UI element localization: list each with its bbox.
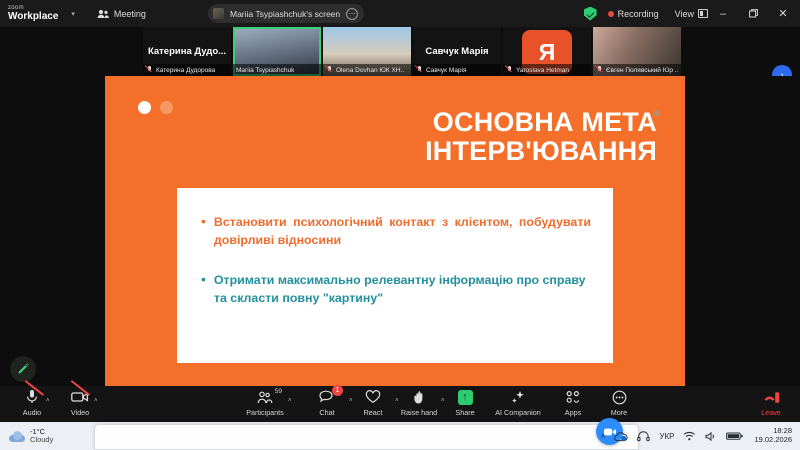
title-bar: zoom Workplace ▾ Meeting Mariia Tsypiash… [0,0,800,27]
participant-name-bar: Євген Полявський Юр .. [593,64,681,76]
participants-label: Participants [246,408,284,417]
raise-hand-label: Raise hand [401,408,437,417]
mic-muted-icon [596,66,603,74]
bullet-marker-icon: • [201,272,206,308]
chat-unread-badge: 1 [332,385,343,396]
camera-muted-icon [71,389,89,405]
participant-name: Савчук Марія [426,67,467,74]
recording-dot-icon [608,11,614,17]
shared-screen-label: Mariia Tsypiashchuk's screen [230,9,340,19]
slide-bullet-text: Отримати максимально релевантну інформац… [214,272,591,308]
tray-expand-icon[interactable]: ˄ [601,432,606,441]
view-label: View [675,9,694,19]
more-button[interactable]: More [592,389,646,421]
leave-label: Leave [761,408,781,417]
apps-label: Apps [565,408,581,417]
participant-tile-active[interactable]: Mariia Tsypiashchuk [233,27,321,76]
video-button[interactable]: Video [53,389,107,421]
language-indicator[interactable]: УКР [659,432,674,441]
slide-bullet-item: • Отримати максимально релевантну інформ… [201,272,591,308]
avatar-initial: Я [539,39,556,66]
share-screen-button[interactable]: ↑ Share [438,389,492,421]
pencil-icon [16,362,30,376]
meeting-tab[interactable]: Meeting [97,9,146,19]
bullet-marker-icon: • [201,214,206,250]
onedrive-icon[interactable] [614,431,628,442]
ai-sparkle-icon [510,389,526,405]
recording-indicator[interactable]: Recording [608,9,659,19]
participant-name-bar: Olena Dovhan ЮК ХН.. [323,64,411,76]
title-bar-right: Recording View – ✕ [584,0,800,27]
video-options-caret-icon[interactable]: ˄ [94,398,98,404]
participant-name-bar: Yaroslava Hetman [503,64,591,76]
minimize-button[interactable]: – [708,0,738,27]
maximize-button[interactable] [738,0,768,27]
share-label: Share [455,408,474,417]
volume-icon[interactable] [705,431,717,442]
leave-meeting-icon [763,389,780,405]
participant-tile[interactable]: Савчук Марія Савчук Марія [413,27,501,76]
participant-name: Olena Dovhan ЮК ХН.. [336,67,404,74]
shared-screen-stage: ОСНОВНА МЕТА ІНТЕРВ'ЮВАННЯ ⊕ • Встановит… [0,76,800,386]
weather-widget[interactable]: -1°C Cloudy [9,428,53,445]
mic-muted-icon [416,66,423,74]
audio-options-caret-icon[interactable]: ˄ [46,398,50,404]
close-button[interactable]: ✕ [768,0,798,27]
annotate-button[interactable] [10,356,36,382]
heart-icon [365,389,381,405]
participant-name-bar: Катерина Дудорова [143,64,231,76]
recording-label: Recording [618,9,659,19]
participant-name-bar: Mariia Tsypiashchuk [233,64,321,76]
clock-date: 19.02.2026 [754,436,792,445]
shared-screen-banner[interactable]: Mariia Tsypiashchuk's screen ⋯ [208,4,364,23]
slide-title: ОСНОВНА МЕТА ІНТЕРВ'ЮВАННЯ [137,108,657,166]
brand-workplace: Workplace [8,12,58,22]
system-tray: ˄ УКР [601,422,796,450]
slide-content-card: • Встановити психологічний контакт з клі… [177,188,613,363]
leave-button[interactable]: Leave [744,389,798,421]
more-label: More [611,408,627,417]
zoom-workplace-logo: zoom Workplace [8,5,58,22]
audio-button[interactable]: Audio [5,389,59,421]
mic-muted-icon [506,66,513,74]
slide-title-line-2: ІНТЕРВ'ЮВАННЯ [137,137,657,166]
layout-grid-icon [698,9,708,18]
zoom-app-window: zoom Workplace ▾ Meeting Mariia Tsypiash… [0,0,800,450]
background-window-panel[interactable] [94,424,639,450]
meeting-toolbar: Audio ˄ Video ˄ 59 [0,386,800,422]
participant-name: Mariia Tsypiashchuk [236,67,294,74]
meeting-security-shield-icon[interactable] [584,7,597,21]
weather-text: -1°C Cloudy [30,428,53,445]
headset-icon[interactable] [637,431,650,442]
cloud-icon [9,431,25,442]
wifi-icon[interactable] [683,431,696,441]
mouse-cursor-icon: ⊕ [653,108,662,117]
view-button[interactable]: View [675,9,708,19]
participant-tile[interactable]: Євген Полявський Юр .. [593,27,681,76]
slide-bullet-item: • Встановити психологічний контакт з клі… [201,214,591,250]
participant-filmstrip[interactable]: Катерина Дудо... Катерина Дудорова Marii… [0,27,800,76]
share-screen-icon: ↑ [458,389,473,405]
share-thumbnail-icon [213,8,224,19]
maximize-icon [749,9,758,18]
raise-hand-icon [413,389,426,405]
share-square-icon: ↑ [458,390,473,405]
chat-icon: 1 [319,389,335,405]
clock[interactable]: 18:28 19.02.2026 [754,427,792,444]
mic-muted-icon [326,66,333,74]
react-label: React [364,408,383,417]
participant-tile[interactable]: Катерина Дудо... Катерина Дудорова [143,27,231,76]
participants-caret-icon[interactable]: ˄ [288,398,292,404]
ai-companion-button[interactable]: AI Companion [485,389,551,421]
video-label: Video [71,408,89,417]
slide-bullet-text: Встановити психологічний контакт з клієн… [214,214,591,250]
audio-label: Audio [23,408,41,417]
more-ellipsis-icon [612,389,627,405]
participant-name: Yaroslava Hetman [516,67,569,74]
presentation-slide: ОСНОВНА МЕТА ІНТЕРВ'ЮВАННЯ ⊕ • Встановит… [105,76,685,386]
chat-label: Chat [319,408,334,417]
microphone-muted-icon [25,389,39,405]
participant-name: Катерина Дудорова [156,67,215,74]
participant-name: Євген Полявський Юр .. [606,67,678,74]
participant-tile[interactable]: Я Yaroslava Hetman [503,27,591,76]
weather-condition: Cloudy [30,436,53,444]
participants-count: 59 [275,388,282,395]
participant-tile[interactable]: Olena Dovhan ЮК ХН.. [323,27,411,76]
participants-button[interactable]: 59 Participants [238,389,292,421]
more-options-icon[interactable]: ⋯ [346,8,358,20]
apps-icon [565,389,581,405]
people-icon [97,9,109,19]
meeting-tab-label: Meeting [114,9,146,19]
battery-icon[interactable] [726,431,743,441]
chevron-down-icon[interactable]: ▾ [71,10,75,18]
participants-icon: 59 [257,389,273,405]
participant-name-bar: Савчук Марія [413,64,501,76]
mic-muted-icon [146,66,153,74]
slide-title-line-1: ОСНОВНА МЕТА [137,108,657,137]
ai-companion-label: AI Companion [495,408,541,417]
